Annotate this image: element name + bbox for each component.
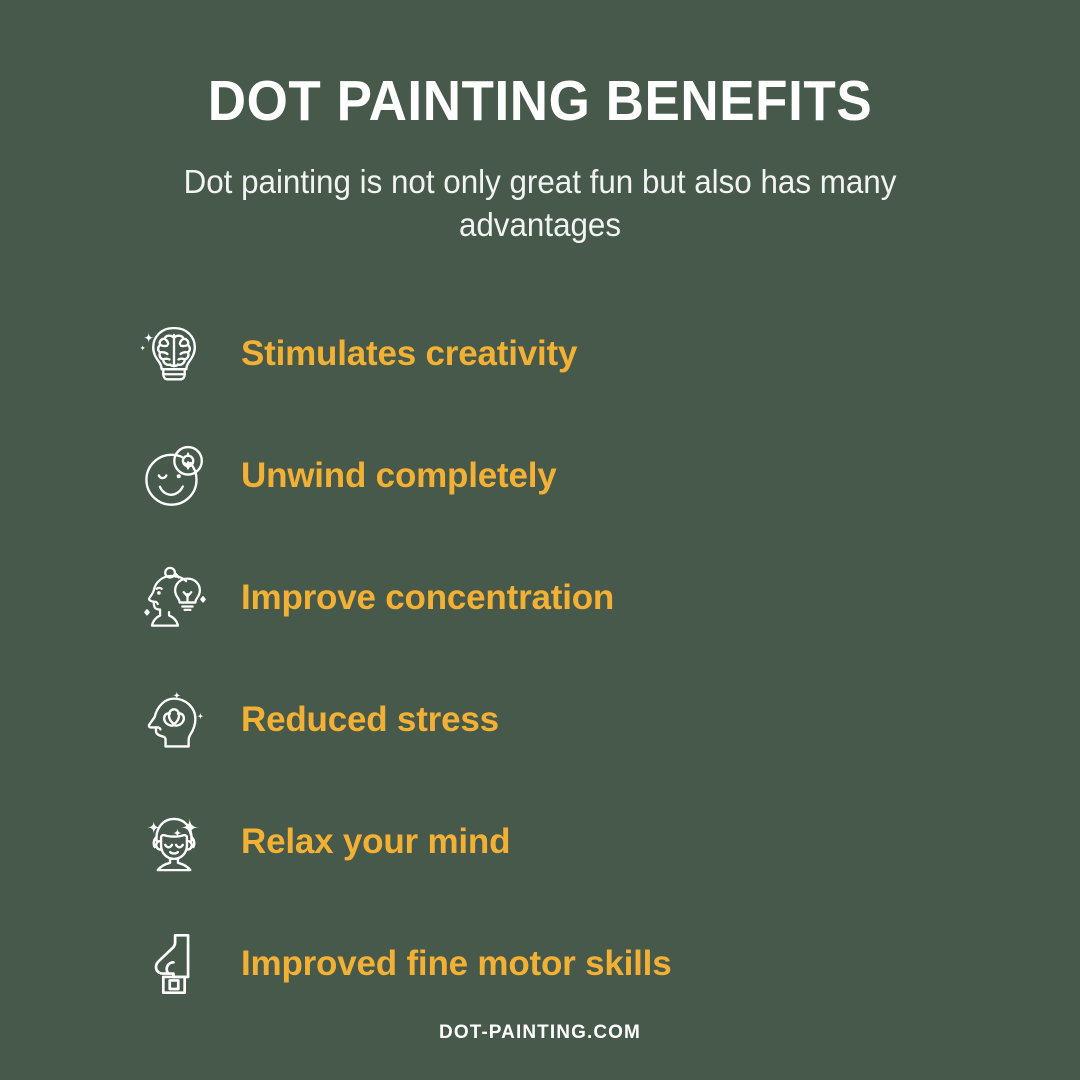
benefits-list: Stimulates creativity: [0, 293, 1080, 1025]
benefit-label: Stimulates creativity: [241, 334, 577, 374]
list-item: Reduced stress: [135, 659, 1080, 781]
benefit-label: Improve concentration: [241, 578, 614, 618]
list-item: Improve concentration: [135, 537, 1080, 659]
lightbulb-brain-icon: [135, 315, 213, 393]
smiling-face-flower-icon: [135, 437, 213, 515]
head-lotus-icon: [135, 681, 213, 759]
benefit-label: Improved fine motor skills: [241, 944, 671, 984]
poster-canvas: DOT PAINTING BENEFITS Dot painting is no…: [0, 0, 1080, 1080]
hand-holding-block-icon: [135, 925, 213, 1003]
list-item: Stimulates creativity: [135, 293, 1080, 415]
benefit-label: Unwind completely: [241, 456, 557, 496]
head-lightbulb-icon: [135, 559, 213, 637]
relaxed-face-sparkles-icon: [135, 803, 213, 881]
list-item: Unwind completely: [135, 415, 1080, 537]
page-subtitle: Dot painting is not only great fun but a…: [165, 160, 916, 247]
benefit-label: Relax your mind: [241, 822, 510, 862]
list-item: Improved fine motor skills: [135, 903, 1080, 1025]
page-title: DOT PAINTING BENEFITS: [38, 72, 1042, 132]
list-item: Relax your mind: [135, 781, 1080, 903]
poster-header: DOT PAINTING BENEFITS Dot painting is no…: [0, 0, 1080, 247]
poster-footer: DOT-PAINTING.COM: [0, 1022, 1080, 1044]
benefit-label: Reduced stress: [241, 700, 499, 740]
website-url: DOT-PAINTING.COM: [439, 1022, 641, 1043]
